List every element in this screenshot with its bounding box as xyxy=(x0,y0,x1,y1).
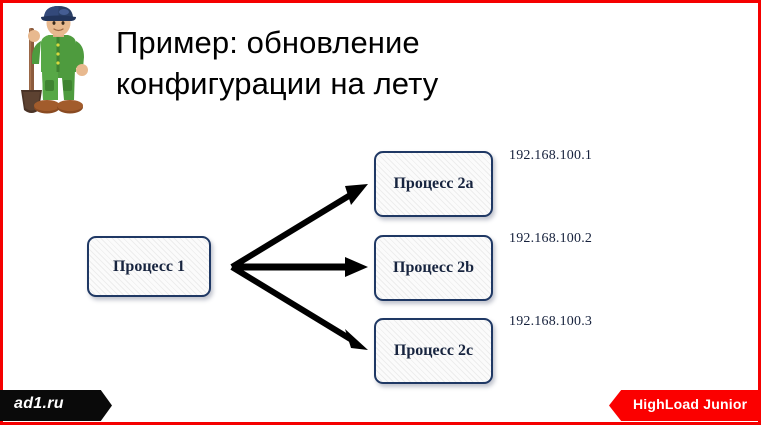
process-flow-diagram: Процесс 1 Процесс 2a Процесс 2b Процесс … xyxy=(0,0,761,425)
process-node-p2b[interactable]: Процесс 2b xyxy=(374,235,493,301)
process-node-p2c[interactable]: Процесс 2c xyxy=(374,318,493,384)
presentation-slide: Пример: обновление конфигурации на лету … xyxy=(0,0,761,425)
arrow-to-process-2c xyxy=(232,267,368,350)
process-node-p1[interactable]: Процесс 1 xyxy=(87,236,211,297)
arrow-to-process-2a xyxy=(232,184,368,267)
process-node-label: Процесс 2b xyxy=(393,259,474,277)
ad1-logo-banner: ad1.ru xyxy=(0,390,112,421)
ip-address-label: 192.168.100.3 xyxy=(509,314,592,330)
arrow-to-process-2b xyxy=(232,257,368,277)
ip-address-label: 192.168.100.2 xyxy=(509,231,592,247)
highload-junior-text: HighLoad Junior xyxy=(633,396,747,412)
process-node-label: Процесс 1 xyxy=(113,258,185,276)
process-node-p2a[interactable]: Процесс 2a xyxy=(374,151,493,217)
process-node-label: Процесс 2a xyxy=(393,175,473,193)
ip-address-label: 192.168.100.1 xyxy=(509,148,592,164)
process-node-label: Процесс 2c xyxy=(394,342,473,360)
highload-junior-banner: HighLoad Junior xyxy=(609,390,761,421)
ad1-logo-text: ad1.ru xyxy=(14,395,64,413)
